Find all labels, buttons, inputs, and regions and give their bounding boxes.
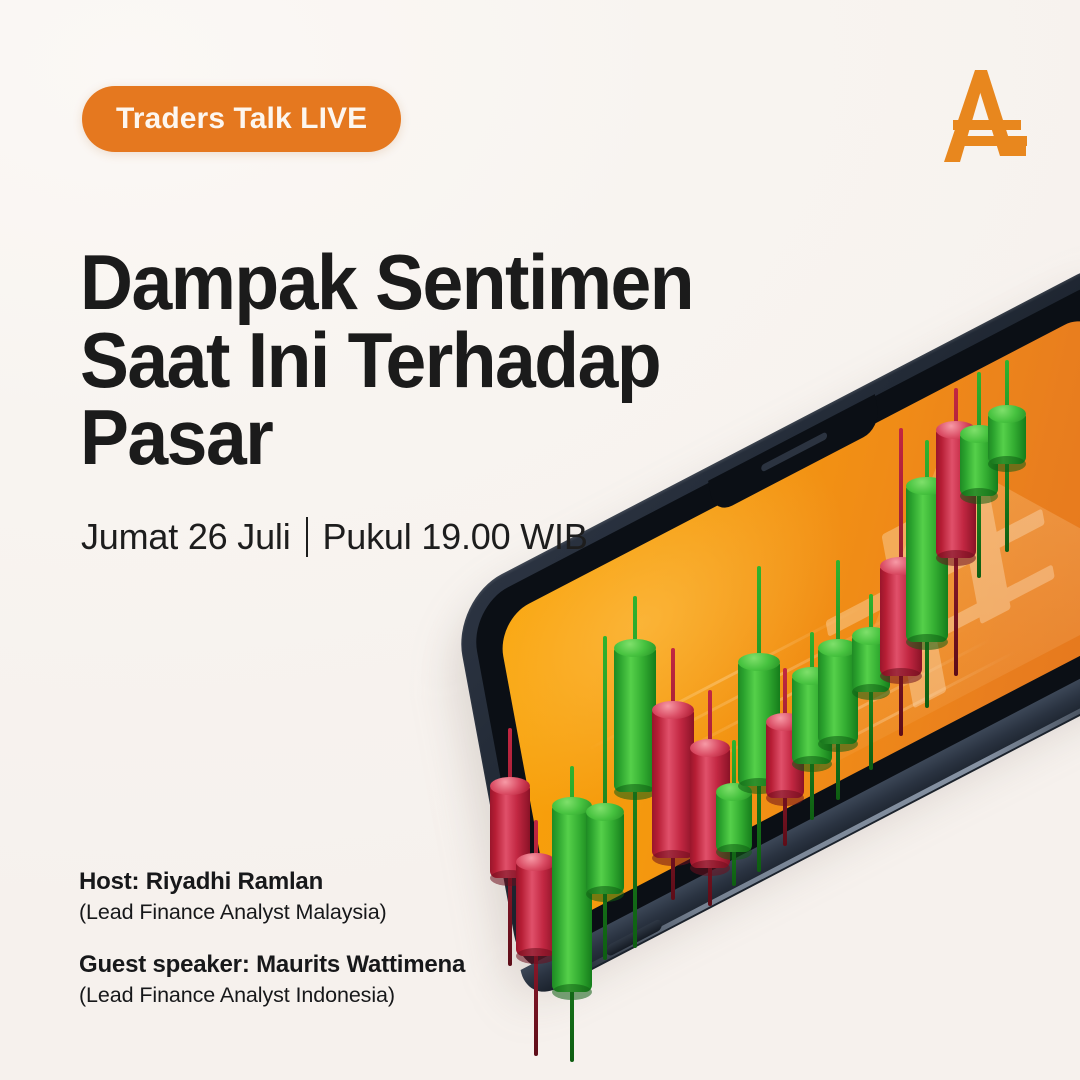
promo-poster: Traders Talk LIVE Dampak Sentimen Saat I… (0, 0, 1080, 1080)
live-badge-label: Traders Talk LIVE (116, 102, 367, 136)
credit-role: (Lead Finance Analyst Malaysia) (79, 898, 465, 927)
schedule-line: Jumat 26 Juli Pukul 19.00 WIB (81, 516, 588, 558)
austral-a-monogram-logo-icon (934, 64, 1034, 168)
credits-block: Host: Riyadhi Ramlan (Lead Finance Analy… (79, 866, 465, 1010)
headline-line-3: Pasar (80, 399, 794, 477)
schedule-time: Pukul 19.00 WIB (323, 516, 588, 558)
credit-name: Guest speaker: Maurits Wattimena (79, 949, 465, 981)
credit-name: Host: Riyadhi Ramlan (79, 866, 465, 898)
credit-guest: Guest speaker: Maurits Wattimena (Lead F… (79, 949, 465, 1010)
schedule-separator (306, 517, 308, 557)
headline-line-1: Dampak Sentimen (80, 244, 794, 322)
live-badge[interactable]: Traders Talk LIVE (82, 86, 401, 152)
headline-line-2: Saat Ini Terhadap (80, 322, 794, 400)
brand-logo (934, 64, 1034, 168)
schedule-date: Jumat 26 Juli (81, 516, 291, 558)
credit-host: Host: Riyadhi Ramlan (Lead Finance Analy… (79, 866, 465, 927)
credit-role: (Lead Finance Analyst Indonesia) (79, 981, 465, 1010)
page-title: Dampak Sentimen Saat Ini Terhadap Pasar (80, 244, 794, 477)
